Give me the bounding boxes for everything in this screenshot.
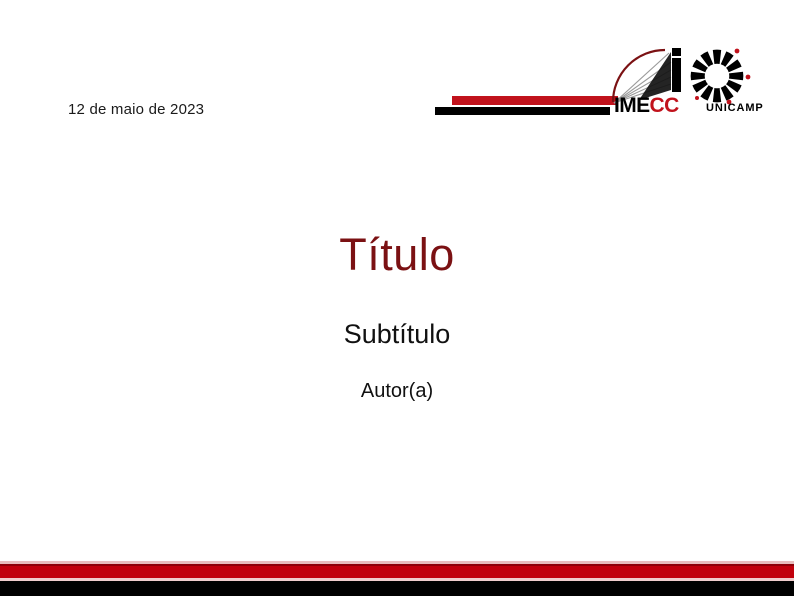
footer-red-bar-shadow [0, 564, 794, 566]
slide-date: 12 de maio de 2023 [68, 101, 204, 118]
footer-red-bar [0, 564, 794, 578]
imecc-wordmark-suffix: CC [650, 94, 679, 117]
title-slide: 12 de maio de 2023 [0, 0, 794, 596]
logo-black-bar [435, 107, 610, 115]
page-author: Autor(a) [0, 381, 794, 401]
footer-black-bar [0, 581, 794, 596]
page-subtitle: Subtítulo [0, 321, 794, 348]
imecc-wordmark: IMECC [614, 95, 679, 116]
logo-red-bar [452, 96, 610, 105]
imecc-unicamp-logo: IMECC UNICAMP [433, 46, 763, 124]
unicamp-label: UNICAMP [706, 102, 764, 114]
imecc-wordmark-prefix: IME [614, 94, 650, 117]
page-title: Título [0, 232, 794, 277]
